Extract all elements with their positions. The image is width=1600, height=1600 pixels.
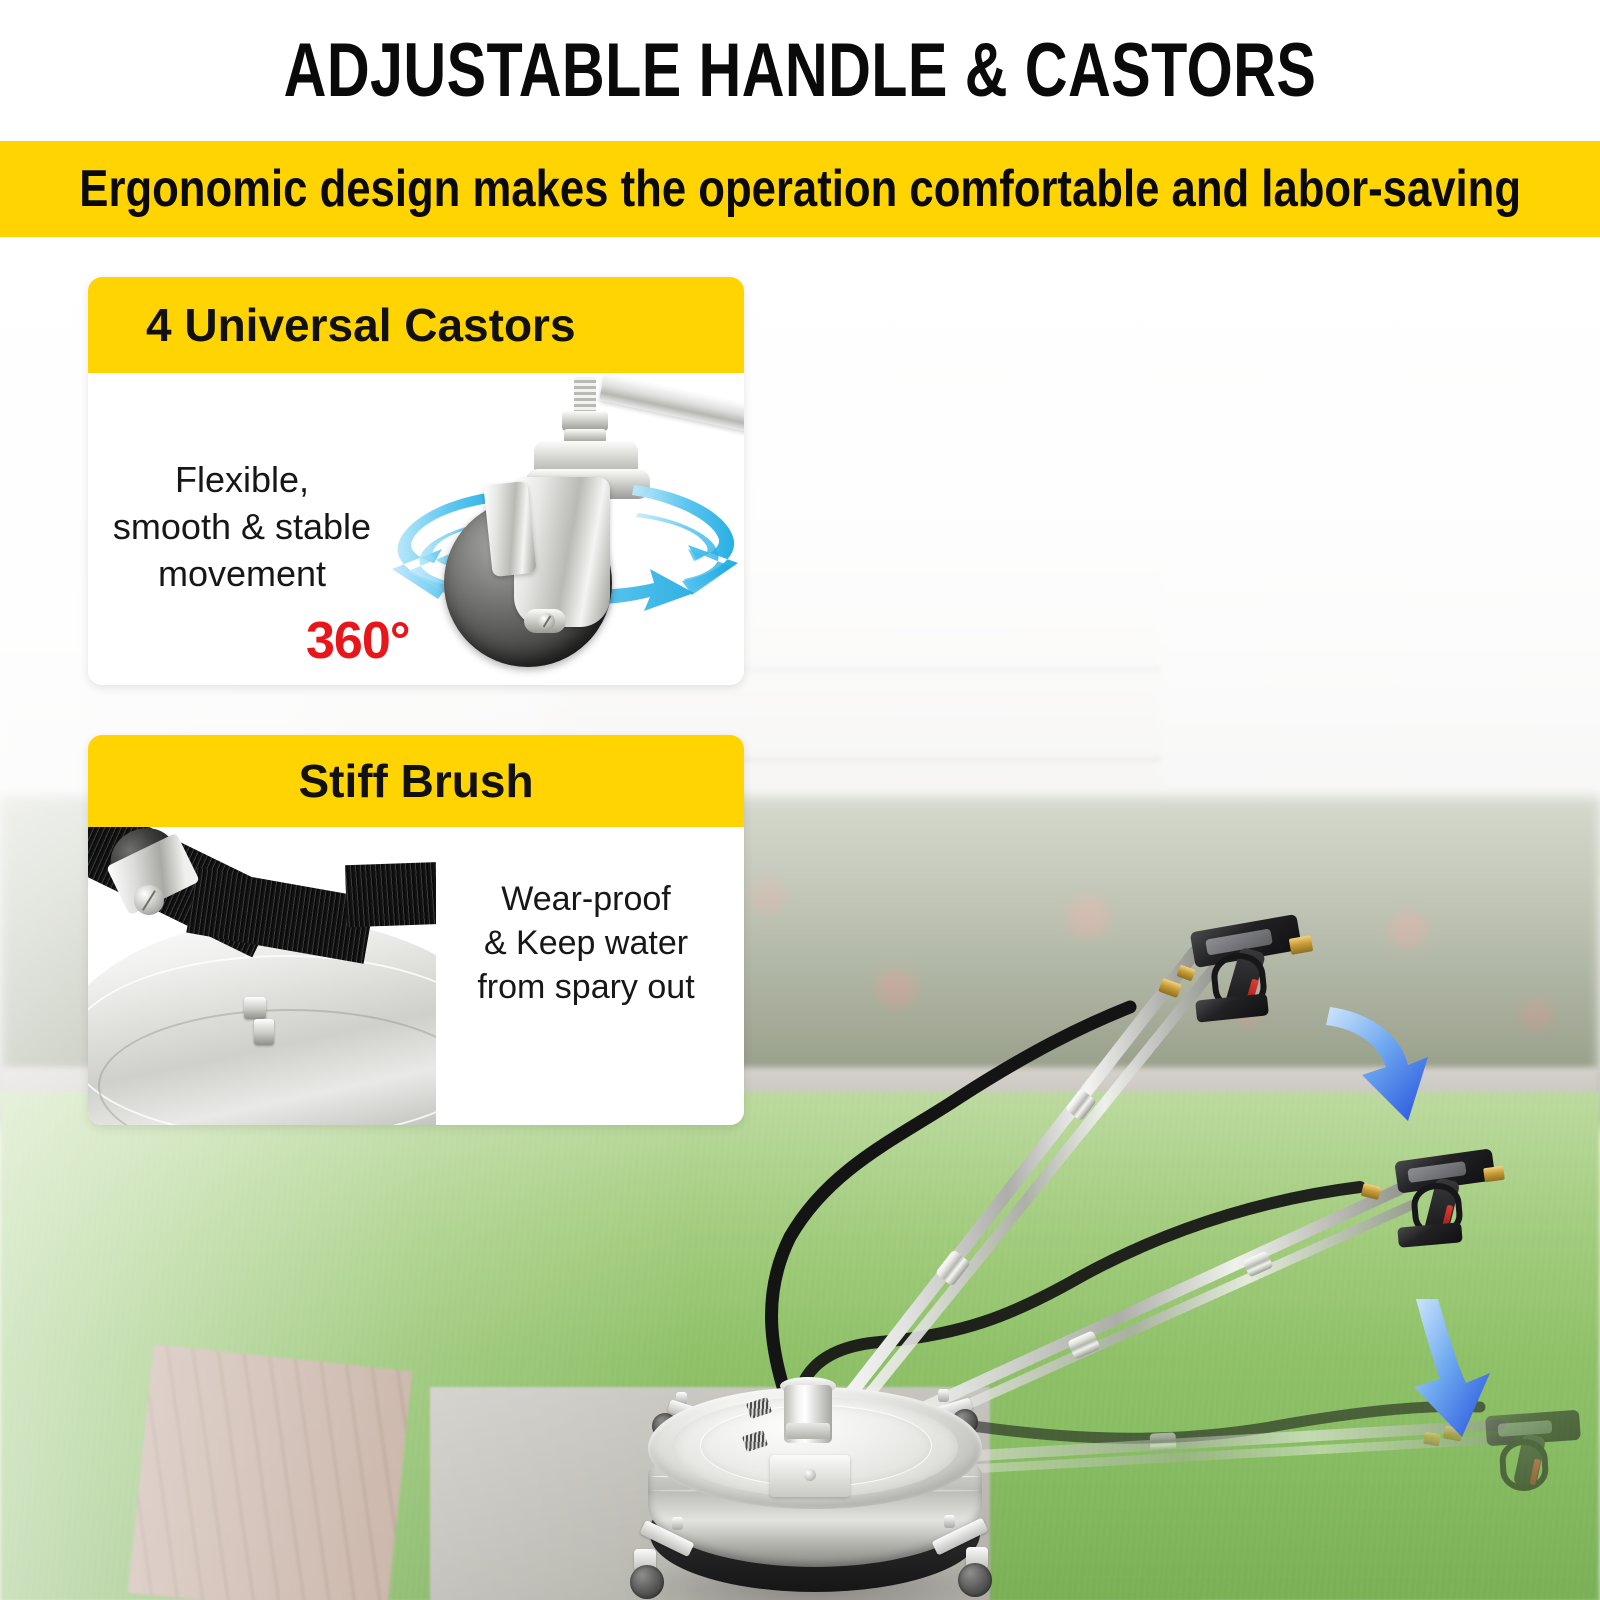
- axle-bolt: [538, 613, 555, 630]
- badge-360-degrees: 360°: [306, 611, 410, 671]
- subtitle-banner: Ergonomic design makes the operation com…: [0, 141, 1600, 237]
- title-bar: ADJUSTABLE HANDLE & CASTORS: [0, 0, 1600, 141]
- castor-photo: [388, 373, 744, 685]
- page-subtitle: Ergonomic design makes the operation com…: [79, 163, 1521, 215]
- card-heading-castors: 4 Universal Castors: [88, 277, 744, 373]
- castor-fork-leg: [483, 481, 536, 577]
- card-text-brush: Wear-proof & Keep water from spary out: [436, 877, 736, 1010]
- card-body-brush: Wear-proof & Keep water from spary out: [88, 827, 744, 1125]
- product-photo-stage: VEVOR: [0, 237, 1600, 1600]
- adjustment-arrow-2: [1414, 1299, 1490, 1437]
- card-body-castors: Flexible, smooth & stable movement 360°: [88, 373, 744, 685]
- card-text-castors: Flexible, smooth & stable movement: [102, 457, 382, 597]
- brush-bristles: [345, 861, 436, 927]
- product-marketing-image: ADJUSTABLE HANDLE & CASTORS Ergonomic de…: [0, 0, 1600, 1600]
- brush-photo: [88, 827, 436, 1125]
- callout-card-brush: Stiff Brush: [88, 735, 744, 1125]
- page-title: ADJUSTABLE HANDLE & CASTORS: [284, 33, 1317, 109]
- adjustment-arrow-1: [1326, 1007, 1428, 1121]
- card-heading-brush: Stiff Brush: [88, 735, 744, 827]
- callout-card-castors: 4 Universal Castors: [88, 277, 744, 685]
- grease-nipple: [254, 1019, 274, 1045]
- grease-nipple: [244, 997, 266, 1019]
- brush-photo-castor-screw: [134, 885, 164, 915]
